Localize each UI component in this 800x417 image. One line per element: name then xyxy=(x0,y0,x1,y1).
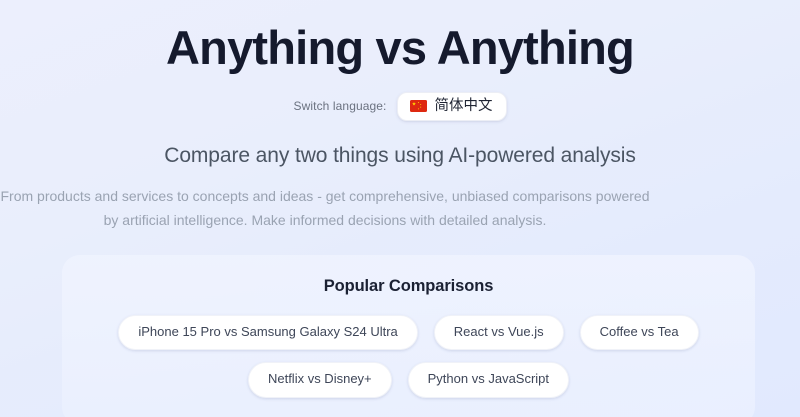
popular-comparisons-list: iPhone 15 Pro vs Samsung Galaxy S24 Ultr… xyxy=(86,315,731,398)
china-flag-icon xyxy=(410,100,427,112)
comparison-chip[interactable]: Coffee vs Tea xyxy=(580,315,699,350)
comparison-chip[interactable]: iPhone 15 Pro vs Samsung Galaxy S24 Ultr… xyxy=(118,315,417,350)
page-title: Anything vs Anything xyxy=(0,22,800,75)
page-subtitle: Compare any two things using AI-powered … xyxy=(0,144,800,168)
page-description: From products and services to concepts a… xyxy=(0,184,650,232)
hero-section: Anything vs Anything Switch language: 简体… xyxy=(0,0,800,232)
landing-page: Anything vs Anything Switch language: 简体… xyxy=(0,0,800,417)
language-switch-button[interactable]: 简体中文 xyxy=(397,92,507,122)
popular-comparisons-card: Popular Comparisons iPhone 15 Pro vs Sam… xyxy=(62,255,755,417)
comparison-chip[interactable]: React vs Vue.js xyxy=(434,315,564,350)
switch-language-label: Switch language: xyxy=(294,99,387,113)
comparison-chip[interactable]: Python vs JavaScript xyxy=(408,362,569,397)
language-switcher: Switch language: 简体中文 xyxy=(0,92,800,122)
language-button-label: 简体中文 xyxy=(435,99,493,114)
comparison-chip[interactable]: Netflix vs Disney+ xyxy=(248,362,392,397)
popular-comparisons-title: Popular Comparisons xyxy=(86,277,731,296)
